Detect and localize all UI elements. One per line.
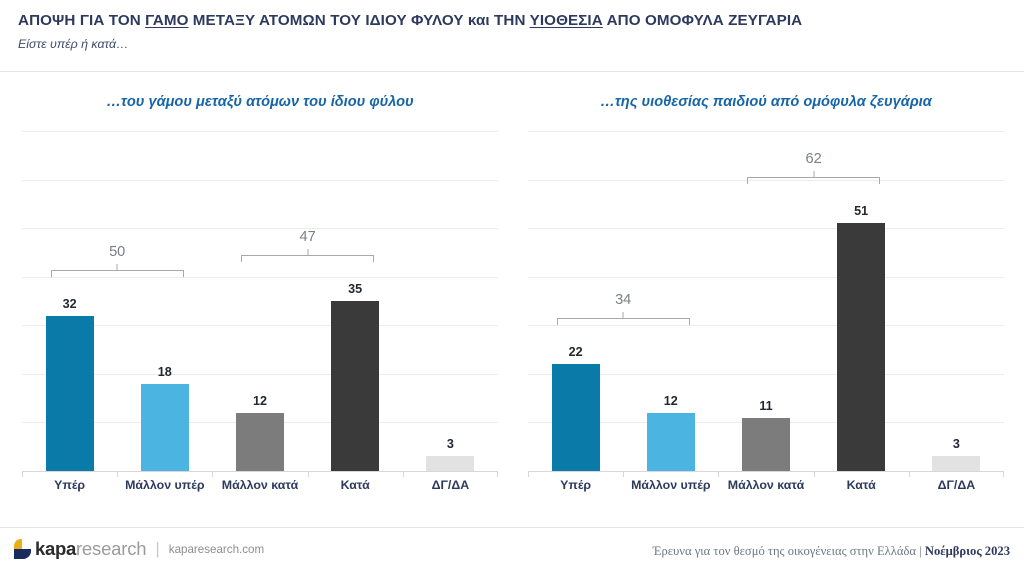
grid-line: [528, 277, 1004, 278]
footer-separator: |: [916, 544, 925, 558]
bar-value-label: 11: [759, 399, 772, 413]
axis-tick: [814, 472, 815, 477]
category-label-0: Υπέρ: [15, 478, 125, 492]
website-url[interactable]: kaparesearch.com: [169, 543, 264, 556]
bracket-value-label: 47: [299, 229, 315, 245]
slide-root: ΑΠΟΨΗ ΓΙΑ ΤΟΝ ΓΑΜΟ ΜΕΤΑΞΥ ΑΤΟΜΩΝ ΤΟΥ ΙΔΙ…: [0, 0, 1024, 567]
page-title: ΑΠΟΨΗ ΓΙΑ ΤΟΝ ΓΑΜΟ ΜΕΤΑΞΥ ΑΤΟΜΩΝ ΤΟΥ ΙΔΙ…: [18, 12, 802, 29]
bar-value-label: 18: [158, 365, 172, 379]
title-keyword-yiothesia: ΥΙΟΘΕΣΙΑ: [530, 12, 603, 29]
bar-adoption-0: 22: [552, 364, 600, 471]
grid-line: [22, 131, 498, 132]
bar-marriage-4: 3: [426, 456, 474, 471]
axis-tick: [909, 472, 910, 477]
bar-value-label: 12: [664, 394, 678, 408]
footer-divider: [0, 527, 1024, 528]
category-label-1: Μάλλον υπέρ: [110, 478, 220, 492]
axis-tick: [1003, 472, 1004, 477]
title-part-4: ΑΠΟ ΟΜΟΦΥΛΑ ΖΕΥΓΑΡΙΑ: [603, 12, 802, 29]
bar-marriage-2: 12: [236, 413, 284, 471]
bar-value-label: 3: [447, 437, 454, 451]
plot-area-marriage: 32Υπέρ18Μάλλον υπέρ12Μάλλον κατά35Κατά3Δ…: [22, 132, 498, 472]
survey-date: Νοέμβριος 2023: [925, 544, 1010, 558]
kapa-logo-icon: [14, 539, 31, 559]
bracket-annotation-0: 34: [552, 312, 695, 325]
bracket-annotation-1: 47: [236, 249, 379, 262]
header-divider: [0, 71, 1024, 72]
category-label-2: Μάλλον κατά: [205, 478, 315, 492]
bar-marriage-1: 18: [141, 384, 189, 471]
logo-text-kapa: kapa: [35, 538, 76, 560]
logo-divider: |: [155, 539, 159, 559]
grid-line: [22, 277, 498, 278]
bracket-annotation-1: 62: [742, 171, 885, 184]
category-label-4: ΔΓ/ΔΑ: [901, 478, 1011, 492]
brand-logo[interactable]: kaparesearch | kaparesearch.com: [14, 538, 264, 560]
category-label-3: Κατά: [806, 478, 916, 492]
title-keyword-gamo: ΓΑΜΟ: [145, 12, 188, 29]
axis-tick: [212, 472, 213, 477]
bar-value-label: 32: [63, 297, 77, 311]
grid-line: [528, 131, 1004, 132]
bar-adoption-2: 11: [742, 418, 790, 471]
grid-line: [22, 180, 498, 181]
title-conjunction: και: [468, 12, 490, 29]
category-label-4: ΔΓ/ΔΑ: [395, 478, 505, 492]
grid-line: [528, 228, 1004, 229]
bracket-value-label: 34: [615, 292, 631, 308]
axis-tick: [528, 472, 529, 477]
logo-text-research: research: [76, 538, 146, 560]
bar-marriage-3: 35: [331, 301, 379, 471]
page-subtitle: Είστε υπέρ ή κατά…: [18, 37, 128, 51]
chart-title-adoption: …της υιοθεσίας παιδιού από ομόφυλα ζευγά…: [520, 94, 1012, 110]
axis-tick: [22, 472, 23, 477]
title-part-2: ΜΕΤΑΞΥ ΑΤΟΜΩΝ ΤΟΥ ΙΔΙΟΥ ΦΥΛΟΥ: [188, 12, 467, 29]
footer-source-note: Έρευνα για τον θεσμό της οικογένειας στη…: [653, 544, 1010, 559]
bar-value-label: 3: [953, 437, 960, 451]
bar-value-label: 51: [854, 204, 868, 218]
plot-area-adoption: 22Υπέρ12Μάλλον υπέρ11Μάλλον κατά51Κατά3Δ…: [528, 132, 1004, 472]
category-label-2: Μάλλον κατά: [711, 478, 821, 492]
category-label-0: Υπέρ: [521, 478, 631, 492]
chart-title-marriage: …του γάμου μεταξύ ατόμων του ίδιου φύλου: [14, 94, 506, 110]
grid-line: [528, 325, 1004, 326]
bar-value-label: 12: [253, 394, 267, 408]
bar-adoption-4: 3: [932, 456, 980, 471]
x-axis-line: [528, 471, 1004, 472]
bar-value-label: 22: [569, 345, 583, 359]
bracket-value-label: 50: [109, 244, 125, 260]
x-axis-line: [22, 471, 498, 472]
bar-adoption-3: 51: [837, 223, 885, 471]
bracket-annotation-0: 50: [46, 264, 189, 277]
grid-line: [22, 228, 498, 229]
bar-marriage-0: 32: [46, 316, 94, 471]
header: ΑΠΟΨΗ ΓΙΑ ΤΟΝ ΓΑΜΟ ΜΕΤΑΞΥ ΑΤΟΜΩΝ ΤΟΥ ΙΔΙ…: [0, 0, 1024, 72]
title-part-3: ΤΗΝ: [490, 12, 530, 29]
category-label-3: Κατά: [300, 478, 410, 492]
title-part-1: ΑΠΟΨΗ ΓΙΑ ΤΟΝ: [18, 12, 145, 29]
axis-tick: [623, 472, 624, 477]
bar-value-label: 35: [348, 282, 362, 296]
bracket-value-label: 62: [805, 151, 821, 167]
survey-description: Έρευνα για τον θεσμό της οικογένειας στη…: [653, 544, 916, 558]
chart-panel-marriage: …του γάμου μεταξύ ατόμων του ίδιου φύλου…: [14, 84, 506, 502]
chart-panel-adoption: …της υιοθεσίας παιδιού από ομόφυλα ζευγά…: [520, 84, 1012, 502]
axis-tick: [718, 472, 719, 477]
axis-tick: [497, 472, 498, 477]
axis-tick: [308, 472, 309, 477]
axis-tick: [117, 472, 118, 477]
bar-adoption-1: 12: [647, 413, 695, 471]
axis-tick: [403, 472, 404, 477]
category-label-1: Μάλλον υπέρ: [616, 478, 726, 492]
